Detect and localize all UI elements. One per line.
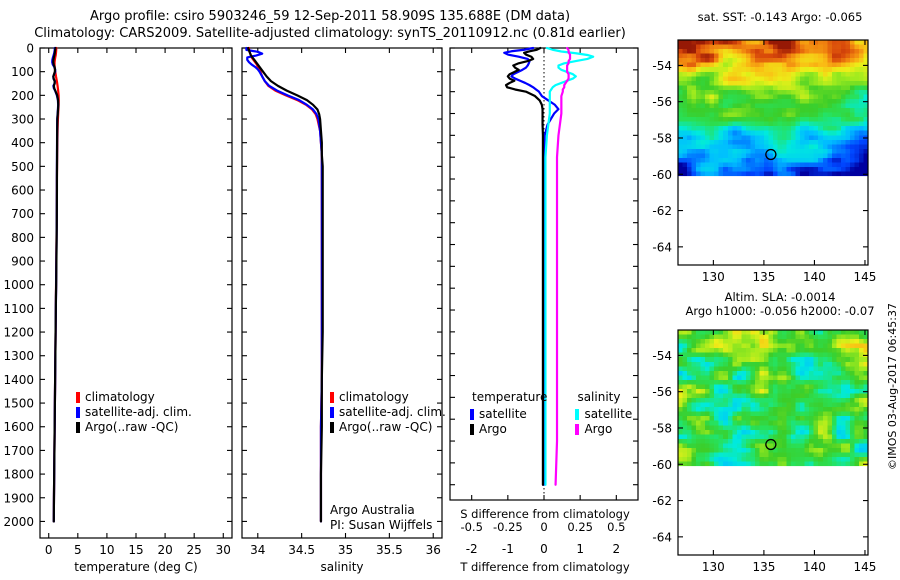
map-cell bbox=[836, 443, 841, 448]
map-cell bbox=[800, 76, 805, 81]
map-cell bbox=[714, 158, 719, 163]
map-cell bbox=[778, 357, 783, 362]
legend-group-salinity: salinitysatelliteArgo bbox=[575, 390, 632, 437]
map-cell bbox=[687, 90, 692, 95]
map-cell bbox=[737, 172, 742, 177]
map-cell bbox=[719, 353, 724, 358]
map-cell bbox=[827, 162, 832, 167]
map-cell bbox=[719, 344, 724, 349]
map-cell bbox=[764, 54, 769, 59]
map-cell bbox=[836, 45, 841, 50]
map-cell bbox=[845, 421, 850, 426]
tick-label: 500 bbox=[11, 160, 34, 174]
map-cell bbox=[818, 99, 823, 104]
map-cell bbox=[705, 167, 710, 172]
map-cell bbox=[827, 122, 832, 127]
map-cell bbox=[782, 99, 787, 104]
map-cell bbox=[836, 49, 841, 54]
map-cell bbox=[809, 344, 814, 349]
map-cell bbox=[814, 357, 819, 362]
map-cell bbox=[782, 371, 787, 376]
map-cell bbox=[859, 384, 864, 389]
map-cell bbox=[732, 54, 737, 59]
map-cell bbox=[710, 104, 715, 109]
map-cell bbox=[805, 72, 810, 77]
map-cell bbox=[737, 153, 742, 158]
map-cell bbox=[787, 366, 792, 371]
map-cell bbox=[705, 412, 710, 417]
map-cell bbox=[768, 430, 773, 435]
map-cell bbox=[773, 421, 778, 426]
map-cell bbox=[787, 421, 792, 426]
map-cell bbox=[791, 153, 796, 158]
map-cell bbox=[759, 375, 764, 380]
map-cell bbox=[796, 140, 801, 145]
tick-label: 900 bbox=[11, 255, 34, 269]
map-nodata-area bbox=[678, 466, 868, 555]
map-cell bbox=[850, 344, 855, 349]
map-cell bbox=[710, 117, 715, 122]
map-cell bbox=[854, 357, 859, 362]
map-cell bbox=[759, 45, 764, 50]
map-cell bbox=[701, 54, 706, 59]
map-cell bbox=[845, 140, 850, 145]
map-cell bbox=[692, 167, 697, 172]
map-cell bbox=[692, 380, 697, 385]
map-cell bbox=[732, 85, 737, 90]
map-cell bbox=[805, 335, 810, 340]
map-cell bbox=[859, 416, 864, 421]
map-cell bbox=[710, 158, 715, 163]
map-cell bbox=[796, 394, 801, 399]
map-raster bbox=[678, 330, 869, 467]
legend-entry: satellite bbox=[575, 407, 632, 422]
map-cell bbox=[687, 412, 692, 417]
map-cell bbox=[791, 430, 796, 435]
map-cell bbox=[741, 366, 746, 371]
map-cell bbox=[818, 108, 823, 113]
map-cell bbox=[750, 108, 755, 113]
map-cell bbox=[823, 108, 828, 113]
map-cell bbox=[791, 67, 796, 72]
map-cell bbox=[773, 375, 778, 380]
map-cell bbox=[723, 104, 728, 109]
tick-label: 1100 bbox=[3, 302, 34, 316]
map-cell bbox=[836, 344, 841, 349]
map-cell bbox=[800, 443, 805, 448]
map-cell bbox=[728, 122, 733, 127]
map-cell bbox=[732, 457, 737, 462]
map-cell bbox=[787, 434, 792, 439]
map-cell bbox=[687, 45, 692, 50]
map-cell bbox=[782, 149, 787, 154]
map-cell bbox=[701, 348, 706, 353]
map-cell bbox=[796, 371, 801, 376]
map-cell bbox=[696, 135, 701, 140]
map-cell bbox=[746, 81, 751, 86]
map-cell bbox=[683, 384, 688, 389]
map-cell bbox=[723, 90, 728, 95]
map-cell bbox=[841, 357, 846, 362]
map-cell bbox=[728, 330, 733, 335]
map-cell bbox=[814, 403, 819, 408]
map-cell bbox=[787, 380, 792, 385]
map-cell bbox=[768, 375, 773, 380]
map-cell bbox=[805, 421, 810, 426]
map-cell bbox=[746, 99, 751, 104]
map-cell bbox=[827, 63, 832, 68]
map-cell bbox=[687, 457, 692, 462]
map-cell bbox=[845, 366, 850, 371]
map-cell bbox=[741, 407, 746, 412]
map-cell bbox=[841, 90, 846, 95]
map-cell bbox=[809, 99, 814, 104]
tick-label: 140 bbox=[803, 560, 826, 574]
map-cell bbox=[683, 45, 688, 50]
map-cell bbox=[750, 135, 755, 140]
map-cell bbox=[678, 344, 683, 349]
map-cell bbox=[755, 439, 760, 444]
map-cell bbox=[836, 439, 841, 444]
map-cell bbox=[737, 462, 742, 467]
map-cell bbox=[678, 457, 683, 462]
map-cell bbox=[728, 335, 733, 340]
map-cell bbox=[755, 430, 760, 435]
map-cell bbox=[705, 380, 710, 385]
map-cell bbox=[823, 149, 828, 154]
map-cell bbox=[696, 403, 701, 408]
map-cell bbox=[814, 412, 819, 417]
map-cell bbox=[732, 384, 737, 389]
map-cell bbox=[705, 94, 710, 99]
map-cell bbox=[696, 54, 701, 59]
map-cell bbox=[737, 412, 742, 417]
map-cell bbox=[809, 172, 814, 177]
map-cell bbox=[764, 76, 769, 81]
map-cell bbox=[850, 54, 855, 59]
map-cell bbox=[768, 416, 773, 421]
map-cell bbox=[741, 348, 746, 353]
map-cell bbox=[809, 416, 814, 421]
map-cell bbox=[791, 140, 796, 145]
map-cell bbox=[854, 380, 859, 385]
map-cell bbox=[782, 162, 787, 167]
map-cell bbox=[719, 72, 724, 77]
map-cell bbox=[741, 439, 746, 444]
map-cell bbox=[710, 81, 715, 86]
map-cell bbox=[845, 448, 850, 453]
map-cell bbox=[809, 425, 814, 430]
map-cell bbox=[782, 49, 787, 54]
map-cell bbox=[859, 104, 864, 109]
legend-label: Argo bbox=[479, 422, 507, 437]
map-cell bbox=[741, 398, 746, 403]
map-cell bbox=[778, 158, 783, 163]
map-cell bbox=[755, 398, 760, 403]
map-cell bbox=[741, 108, 746, 113]
map-cell bbox=[836, 348, 841, 353]
map-cell bbox=[719, 63, 724, 68]
map-cell bbox=[778, 85, 783, 90]
map-cell bbox=[850, 49, 855, 54]
map-cell bbox=[741, 425, 746, 430]
tick-label: 1700 bbox=[3, 444, 34, 458]
map-cell bbox=[705, 149, 710, 154]
map-cell bbox=[805, 443, 810, 448]
map-cell bbox=[683, 348, 688, 353]
map-cell bbox=[854, 162, 859, 167]
map-cell bbox=[714, 443, 719, 448]
map-cell bbox=[773, 108, 778, 113]
map-cell bbox=[741, 335, 746, 340]
map-cell bbox=[732, 117, 737, 122]
map-cell bbox=[841, 54, 846, 59]
map-cell bbox=[805, 362, 810, 367]
map-cell bbox=[773, 380, 778, 385]
map-cell bbox=[787, 117, 792, 122]
map-cell bbox=[719, 434, 724, 439]
map-cell bbox=[737, 90, 742, 95]
map-cell bbox=[750, 421, 755, 426]
map-cell bbox=[710, 457, 715, 462]
map-cell bbox=[750, 348, 755, 353]
map-cell bbox=[723, 140, 728, 145]
map-cell bbox=[809, 421, 814, 426]
map-cell bbox=[719, 67, 724, 72]
map-cell bbox=[787, 403, 792, 408]
map-cell bbox=[782, 54, 787, 59]
map-cell bbox=[719, 126, 724, 131]
map-cell bbox=[746, 430, 751, 435]
map-cell bbox=[723, 149, 728, 154]
map-cell bbox=[705, 158, 710, 163]
map-cell bbox=[859, 357, 864, 362]
map-cell bbox=[778, 348, 783, 353]
tick-label: 35.5 bbox=[376, 543, 403, 557]
map-cell bbox=[805, 108, 810, 113]
map-cell bbox=[723, 158, 728, 163]
map-cell bbox=[805, 104, 810, 109]
tick-label: 0 bbox=[45, 543, 53, 557]
map-cell bbox=[683, 135, 688, 140]
map-cell bbox=[768, 140, 773, 145]
map-cell bbox=[732, 416, 737, 421]
map-cell bbox=[737, 162, 742, 167]
map-cell bbox=[683, 140, 688, 145]
map-cell bbox=[823, 398, 828, 403]
map-cell bbox=[782, 416, 787, 421]
tick-label: 800 bbox=[11, 231, 34, 245]
tick-label: 0 bbox=[540, 542, 548, 556]
map-cell bbox=[773, 353, 778, 358]
map-cell bbox=[809, 108, 814, 113]
map-cell bbox=[814, 58, 819, 63]
map-cell bbox=[827, 40, 832, 45]
map-cell bbox=[710, 167, 715, 172]
map-cell bbox=[836, 398, 841, 403]
map-cell bbox=[759, 67, 764, 72]
map-cell bbox=[710, 407, 715, 412]
map-cell bbox=[850, 439, 855, 444]
tick-label: 1900 bbox=[3, 491, 34, 505]
map-cell bbox=[845, 85, 850, 90]
map-cell bbox=[782, 117, 787, 122]
map-cell bbox=[800, 348, 805, 353]
map-cell bbox=[850, 398, 855, 403]
map-cell bbox=[791, 90, 796, 95]
map-cell bbox=[759, 403, 764, 408]
map-cell bbox=[755, 40, 760, 45]
map-cell bbox=[755, 457, 760, 462]
map-cell bbox=[809, 94, 814, 99]
map-cell bbox=[809, 434, 814, 439]
map-cell bbox=[701, 394, 706, 399]
legend-color-swatch bbox=[575, 424, 579, 435]
map-cell bbox=[841, 144, 846, 149]
map-cell bbox=[778, 40, 783, 45]
sst-map-plot: -54-56-58-60-62-64130135140145 bbox=[660, 0, 900, 290]
map-cell bbox=[705, 54, 710, 59]
map-cell bbox=[768, 398, 773, 403]
map-cell bbox=[809, 443, 814, 448]
tick-label: 2 bbox=[612, 542, 620, 556]
map-cell bbox=[719, 330, 724, 335]
map-cell bbox=[823, 375, 828, 380]
map-cell bbox=[796, 90, 801, 95]
map-cell bbox=[805, 99, 810, 104]
map-cell bbox=[750, 430, 755, 435]
map-cell bbox=[710, 452, 715, 457]
map-cell bbox=[759, 135, 764, 140]
map-cell bbox=[800, 421, 805, 426]
map-cell bbox=[800, 94, 805, 99]
map-cell bbox=[782, 380, 787, 385]
map-cell bbox=[800, 375, 805, 380]
map-cell bbox=[827, 452, 832, 457]
map-cell bbox=[687, 439, 692, 444]
map-cell bbox=[710, 375, 715, 380]
map-cell bbox=[723, 380, 728, 385]
map-cell bbox=[859, 131, 864, 136]
map-cell bbox=[791, 362, 796, 367]
map-cell bbox=[818, 430, 823, 435]
map-cell bbox=[859, 403, 864, 408]
map-cell bbox=[787, 452, 792, 457]
map-cell bbox=[678, 443, 683, 448]
map-cell bbox=[732, 162, 737, 167]
map-cell bbox=[854, 457, 859, 462]
map-cell bbox=[750, 339, 755, 344]
map-cell bbox=[850, 407, 855, 412]
map-cell bbox=[755, 421, 760, 426]
map-cell bbox=[741, 131, 746, 136]
map-cell bbox=[778, 439, 783, 444]
map-cell bbox=[719, 104, 724, 109]
map-cell bbox=[759, 421, 764, 426]
map-cell bbox=[809, 448, 814, 453]
map-cell bbox=[732, 421, 737, 426]
map-cell bbox=[683, 330, 688, 335]
figure-canvas: Argo profile: csiro 5903246_59 12-Sep-20… bbox=[0, 0, 900, 580]
map-cell bbox=[683, 452, 688, 457]
map-cell bbox=[782, 335, 787, 340]
map-cell bbox=[746, 384, 751, 389]
map-cell bbox=[696, 335, 701, 340]
map-cell bbox=[841, 158, 846, 163]
map-cell bbox=[701, 144, 706, 149]
map-cell bbox=[696, 344, 701, 349]
map-cell bbox=[814, 90, 819, 95]
map-cell bbox=[768, 94, 773, 99]
map-cell bbox=[818, 416, 823, 421]
map-cell bbox=[728, 425, 733, 430]
map-cell bbox=[827, 67, 832, 72]
map-cell bbox=[678, 384, 683, 389]
map-cell bbox=[796, 153, 801, 158]
tick-label: 0.5 bbox=[607, 520, 625, 534]
map-cell bbox=[759, 344, 764, 349]
map-cell bbox=[845, 439, 850, 444]
map-cell bbox=[773, 162, 778, 167]
map-cell bbox=[809, 384, 814, 389]
map-cell bbox=[836, 462, 841, 467]
map-cell bbox=[719, 162, 724, 167]
map-cell bbox=[705, 172, 710, 177]
map-cell bbox=[732, 122, 737, 127]
map-cell bbox=[696, 353, 701, 358]
map-cell bbox=[809, 140, 814, 145]
map-cell bbox=[805, 375, 810, 380]
map-cell bbox=[750, 162, 755, 167]
map-cell bbox=[832, 76, 837, 81]
map-cell bbox=[701, 407, 706, 412]
map-cell bbox=[755, 104, 760, 109]
map-cell bbox=[683, 49, 688, 54]
map-cell bbox=[787, 439, 792, 444]
map-cell bbox=[845, 99, 850, 104]
map-cell bbox=[854, 40, 859, 45]
map-cell bbox=[782, 353, 787, 358]
tick-label: 15 bbox=[128, 543, 143, 557]
map-cell bbox=[737, 339, 742, 344]
tick-label: 130 bbox=[702, 560, 725, 574]
map-cell bbox=[791, 462, 796, 467]
map-cell bbox=[836, 330, 841, 335]
map-nodata-area bbox=[678, 176, 868, 265]
map-cell bbox=[683, 113, 688, 118]
map-cell bbox=[836, 67, 841, 72]
map-cell bbox=[764, 398, 769, 403]
map-cell bbox=[818, 94, 823, 99]
map-cell bbox=[805, 117, 810, 122]
map-cell bbox=[737, 158, 742, 163]
map-cell bbox=[796, 94, 801, 99]
map-cell bbox=[809, 131, 814, 136]
map-cell bbox=[854, 398, 859, 403]
map-cell bbox=[683, 108, 688, 113]
map-cell bbox=[710, 430, 715, 435]
map-cell bbox=[796, 330, 801, 335]
map-cell bbox=[750, 99, 755, 104]
map-cell bbox=[827, 72, 832, 77]
map-cell bbox=[728, 153, 733, 158]
map-cell bbox=[832, 122, 837, 127]
map-cell bbox=[859, 76, 864, 81]
map-cell bbox=[809, 85, 814, 90]
map-cell bbox=[800, 67, 805, 72]
map-cell bbox=[787, 407, 792, 412]
map-cell bbox=[778, 330, 783, 335]
